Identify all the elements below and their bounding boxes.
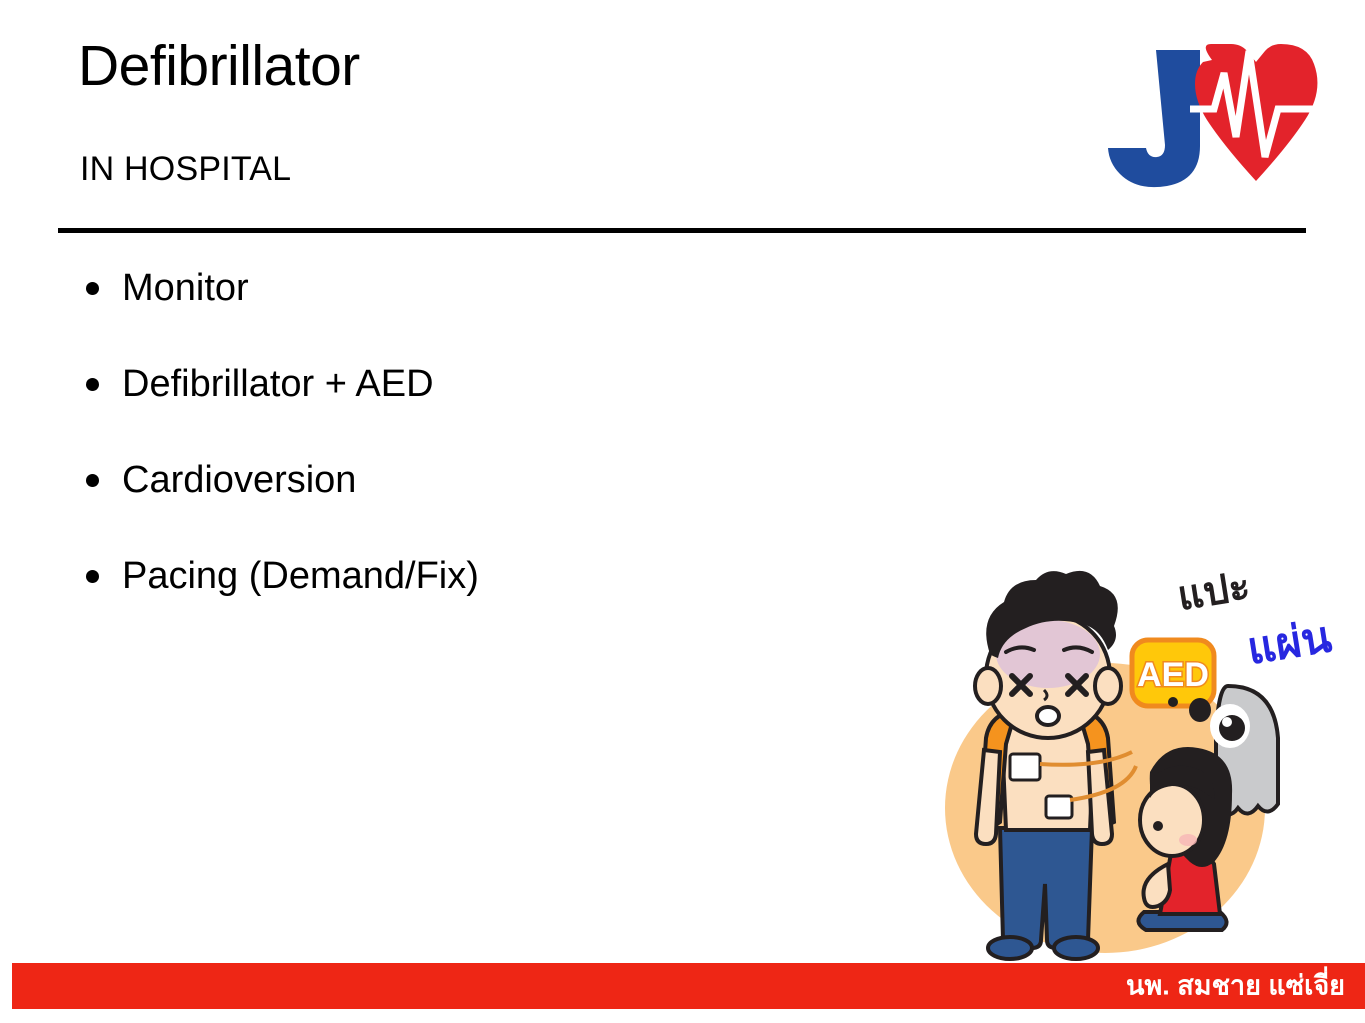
heart-icon	[1190, 44, 1328, 181]
list-item: Defibrillator + AED	[82, 362, 882, 458]
ghost-eye	[1189, 698, 1211, 722]
aed-device-label: AED	[1137, 656, 1209, 694]
aed-device: AED	[1132, 640, 1214, 707]
page-subtitle: IN HOSPITAL	[80, 152, 291, 186]
header-divider	[58, 228, 1306, 233]
list-item: Cardioversion	[82, 458, 882, 554]
list-item: Monitor	[82, 266, 882, 362]
slide-canvas: Defibrillator IN HOSPITAL Monitor Defibr…	[0, 0, 1365, 1023]
aed-pad	[1046, 796, 1072, 818]
list-item: Pacing (Demand/Fix)	[82, 554, 882, 650]
rescuer-figure	[1138, 747, 1232, 930]
eye	[1153, 821, 1163, 831]
bullet-dot-icon	[86, 570, 99, 583]
bullet-label: Monitor	[122, 266, 249, 310]
bullet-label: Defibrillator + AED	[122, 362, 434, 406]
annotation-blue: แผ่น	[1244, 612, 1335, 674]
bullet-label: Pacing (Demand/Fix)	[122, 554, 479, 598]
jm-heart-logo	[1084, 36, 1340, 204]
annotation-black: แปะ	[1175, 564, 1254, 619]
footer-author-name: นพ. สมชาย แซ่เจี่ย	[1126, 973, 1345, 1000]
aed-pad	[1010, 754, 1040, 780]
bullet-dot-icon	[86, 378, 99, 391]
page-title: Defibrillator	[78, 38, 360, 95]
aed-cartoon-illustration: AED	[900, 558, 1365, 962]
bullet-dot-icon	[86, 474, 99, 487]
bullet-label: Cardioversion	[122, 458, 356, 502]
bullet-dot-icon	[86, 282, 99, 295]
footer-bar: นพ. สมชาย แซ่เจี่ย	[12, 963, 1365, 1009]
bullet-list: Monitor Defibrillator + AED Cardioversio…	[82, 266, 882, 650]
letter-j-icon	[1108, 50, 1200, 187]
